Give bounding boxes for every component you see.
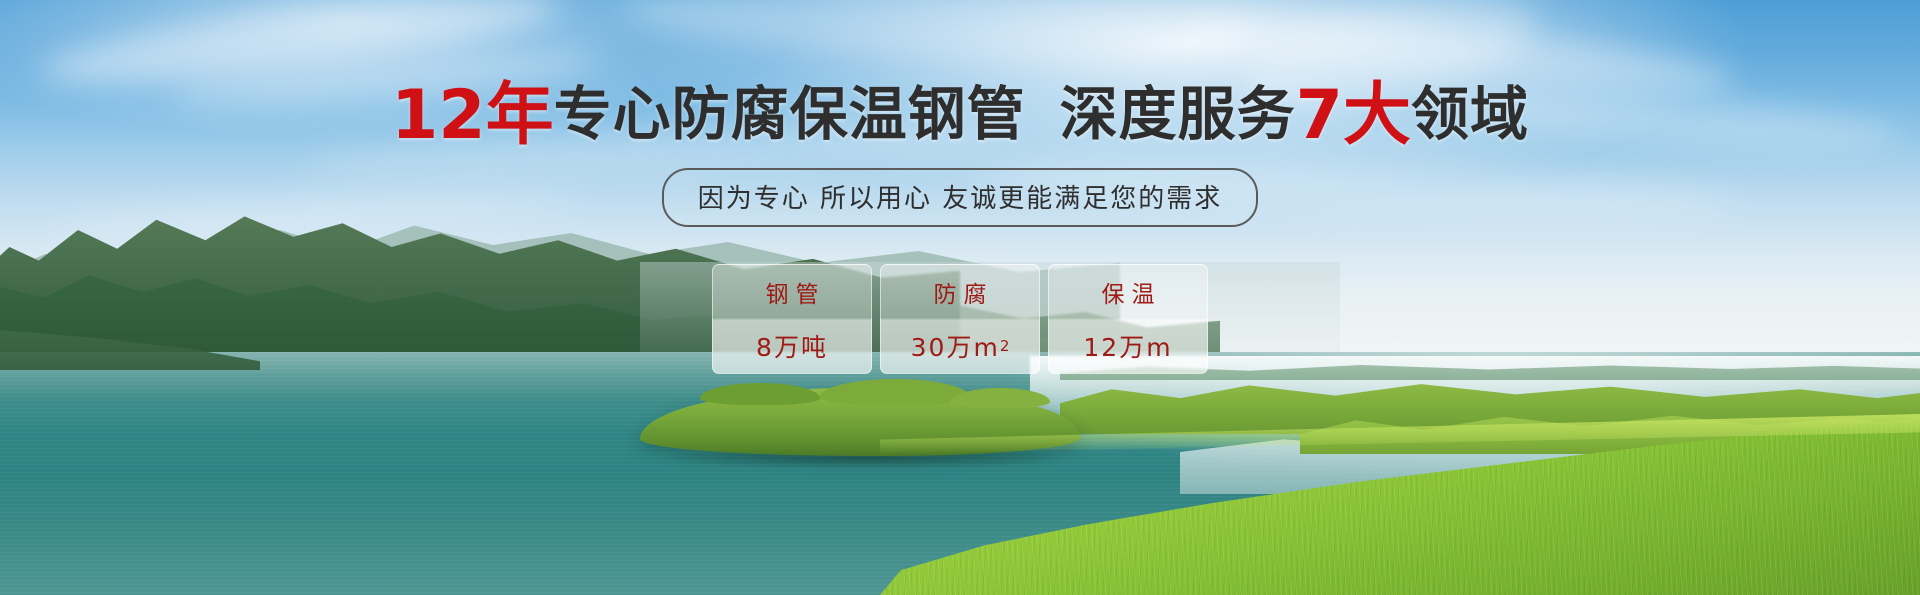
banner-subtitle-wrapper: 因为专心 所以用心 友诚更能满足您的需求 (0, 168, 1920, 227)
stat-value-superscript: 2 (1000, 337, 1010, 355)
stat-card-label: 防腐 (927, 265, 994, 319)
headline-fields-accent: 7大 (1296, 76, 1411, 155)
banner-content: 12年专心防腐保温钢管深度服务7大领域 因为专心 所以用心 友诚更能满足您的需求… (0, 0, 1920, 595)
stat-card-group: 钢管 8万吨 防腐 30万m2 保温 12万m (0, 264, 1920, 374)
stat-card-value: 8万吨 (756, 319, 828, 374)
stat-card-anticorrosion: 防腐 30万m2 (880, 264, 1040, 374)
stat-card-value: 12万m (1083, 319, 1172, 374)
hero-banner: 12年专心防腐保温钢管深度服务7大领域 因为专心 所以用心 友诚更能满足您的需求… (0, 0, 1920, 595)
stat-card-value: 30万m2 (911, 319, 1010, 374)
stat-card-label: 保温 (1095, 265, 1162, 319)
stat-value-main: 8万吨 (756, 328, 828, 364)
headline-fields-text: 领域 (1411, 80, 1529, 148)
banner-headline: 12年专心防腐保温钢管深度服务7大领域 (0, 82, 1920, 150)
headline-years-accent: 12年 (391, 76, 554, 155)
stat-value-main: 30万m (911, 328, 1000, 364)
headline-main-text: 专心防腐保温钢管 (554, 80, 1026, 148)
banner-subtitle-pill: 因为专心 所以用心 友诚更能满足您的需求 (662, 168, 1259, 227)
headline-service-text: 深度服务 (1060, 80, 1296, 148)
stat-value-main: 12万m (1083, 328, 1172, 364)
stat-card-label: 钢管 (759, 265, 826, 319)
stat-card-steel-pipe: 钢管 8万吨 (712, 264, 872, 374)
stat-card-insulation: 保温 12万m (1048, 264, 1208, 374)
